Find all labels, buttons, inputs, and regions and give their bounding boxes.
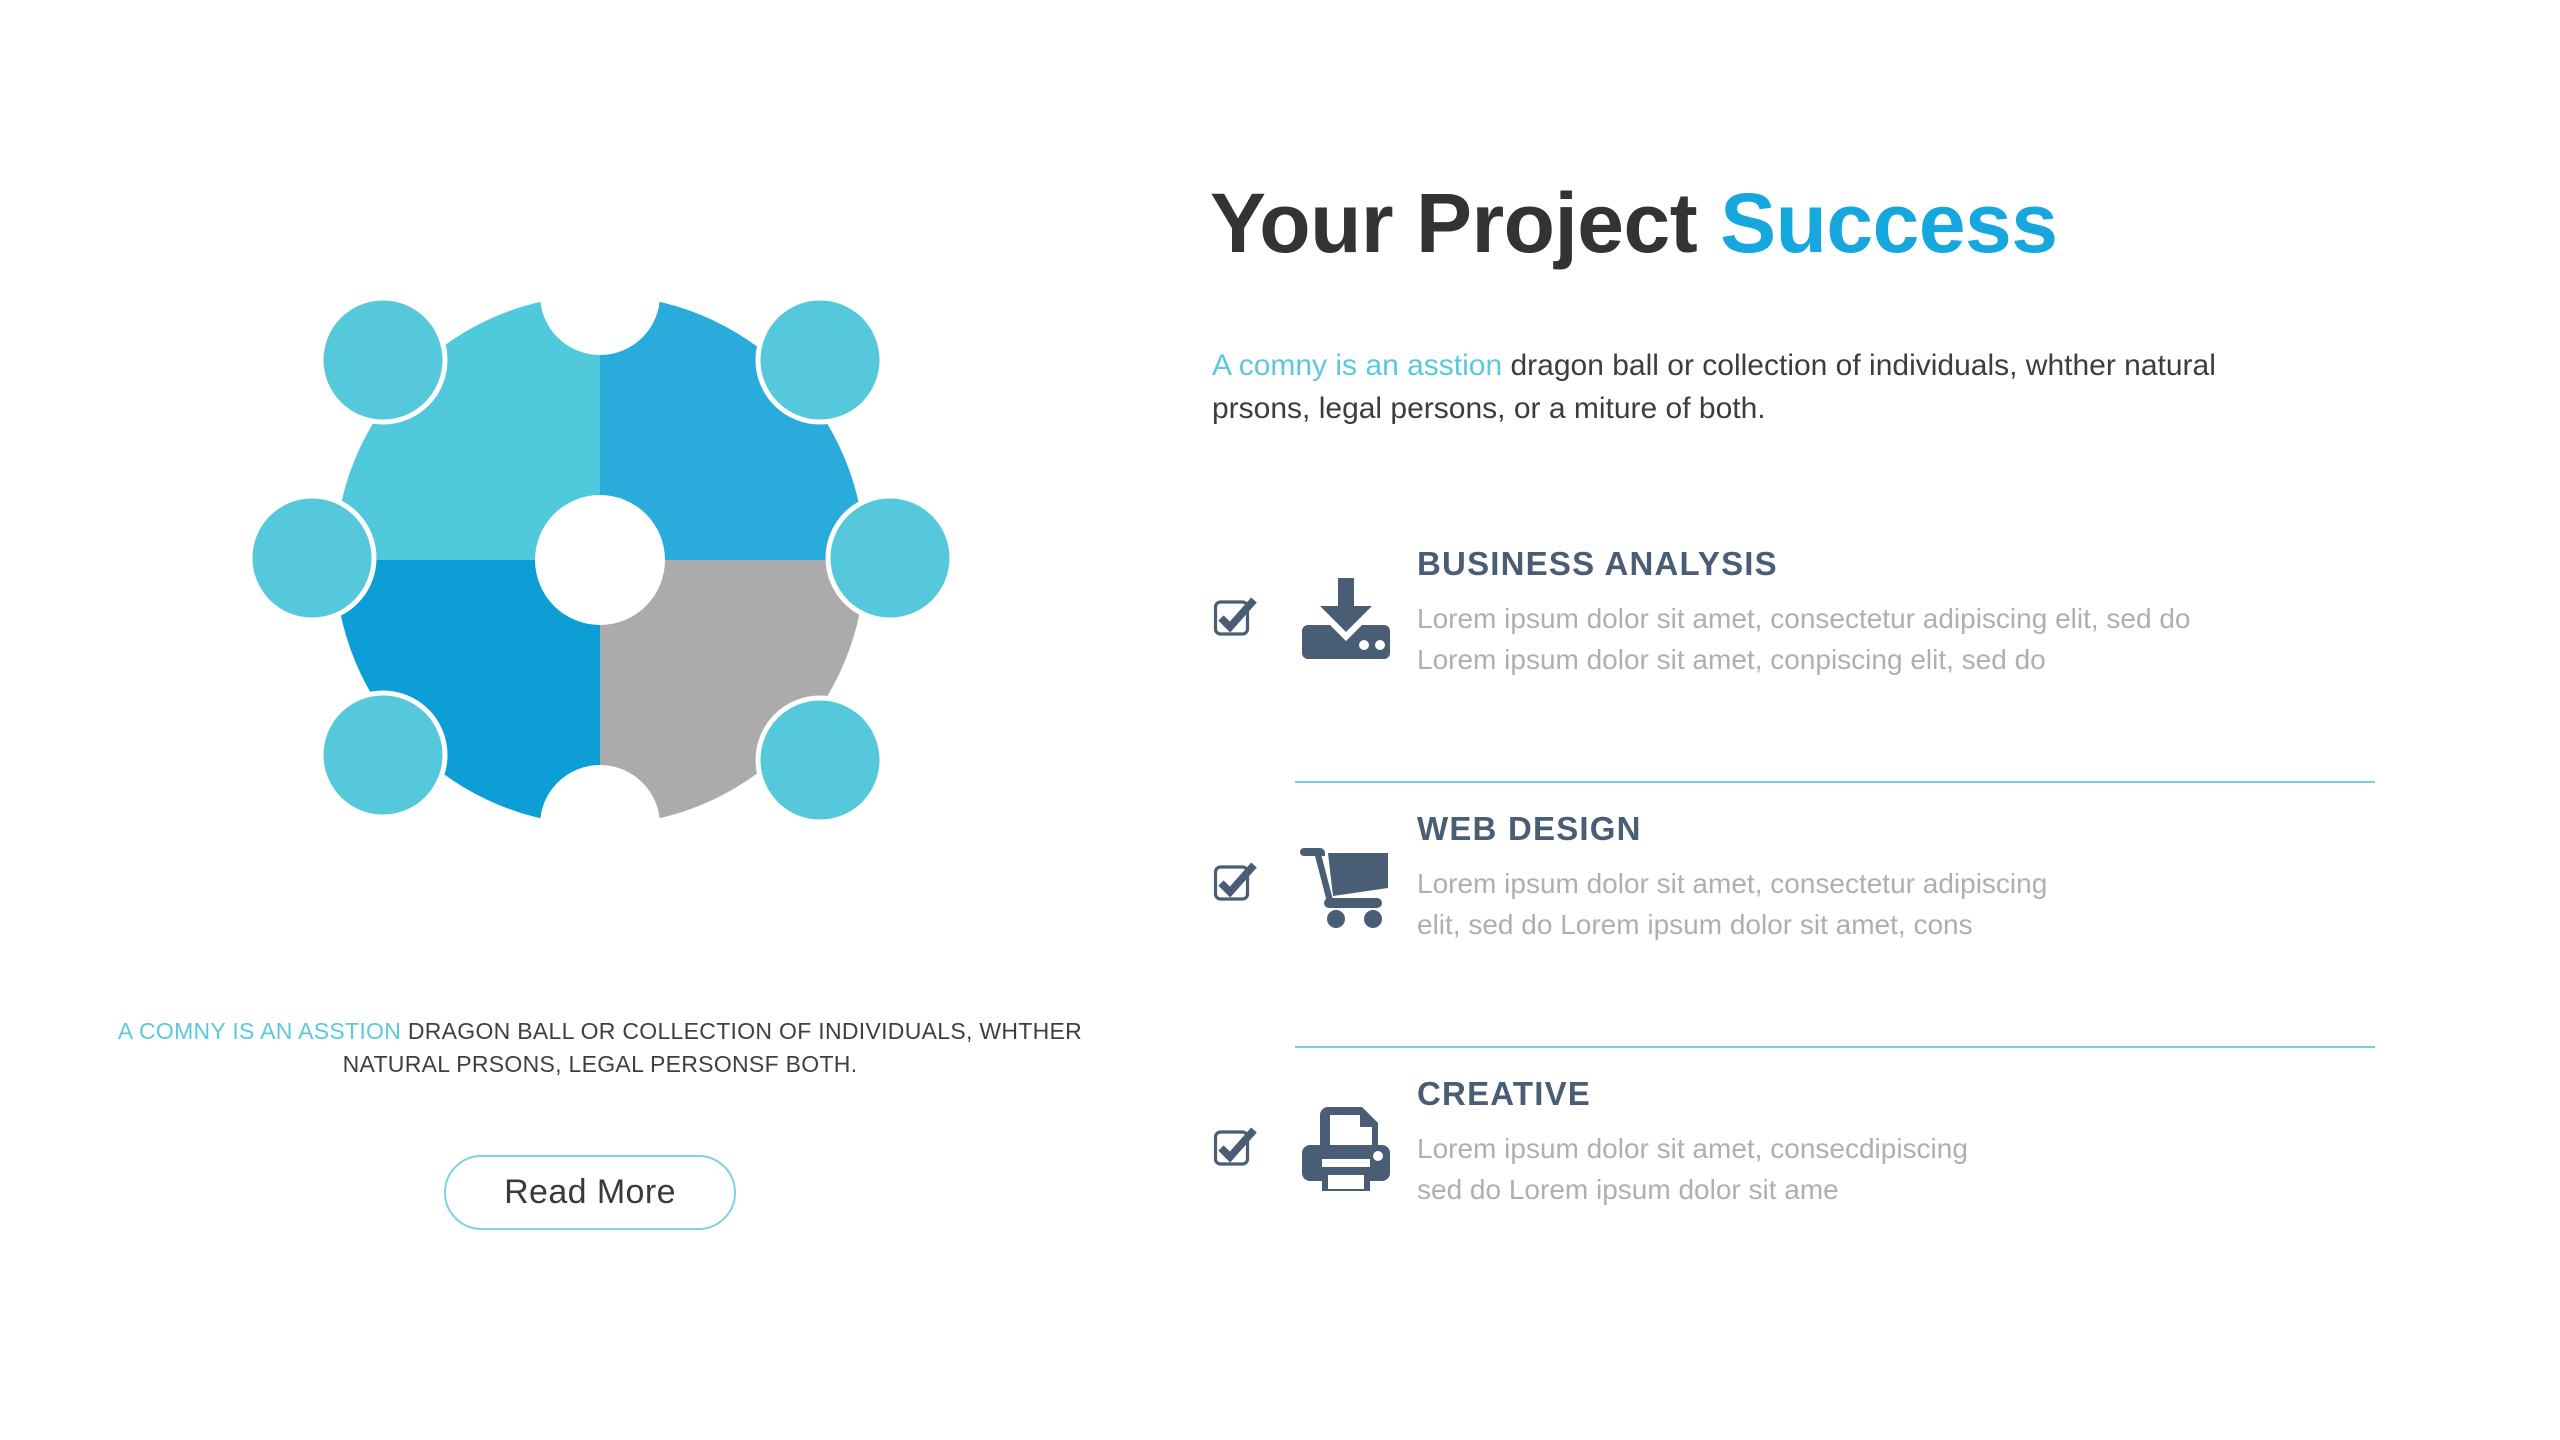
feature-list: BUSINESS ANALYSIS Lorem ipsum dolor sit … — [1180, 545, 2560, 1075]
diagram-svg — [130, 195, 1070, 1005]
slide-root: A COMNY IS AN ASSTION DRAGON BALL OR COL… — [0, 0, 2560, 1440]
feature-divider — [1295, 1046, 2375, 1048]
left-caption: A COMNY IS AN ASSTION DRAGON BALL OR COL… — [100, 1015, 1100, 1082]
circular-quadrant-diagram — [130, 195, 1070, 1005]
checkbox-checked-icon[interactable] — [1212, 860, 1258, 906]
left-caption-highlight: A COMNY IS AN ASSTION — [118, 1018, 401, 1044]
feature-title: BUSINESS ANALYSIS — [1417, 545, 2457, 583]
read-more-wrap: Read More — [0, 1155, 1180, 1230]
satellite-circle-mid-left[interactable] — [250, 496, 374, 620]
left-caption-rest: DRAGON BALL OR COLLECTION OF INDIVIDUALS… — [343, 1018, 1082, 1077]
left-panel: A COMNY IS AN ASSTION DRAGON BALL OR COL… — [0, 0, 1180, 1440]
feature-description-line: Lorem ipsum dolor sit amet, conpiscing e… — [1417, 640, 2457, 681]
satellite-circle-mid-right[interactable] — [828, 496, 952, 620]
feature-title: CREATIVE — [1417, 1075, 2457, 1113]
feature-description-line: Lorem ipsum dolor sit amet, consecdipisc… — [1417, 1129, 2457, 1170]
satellite-circle-top-left[interactable] — [321, 298, 445, 422]
feature-divider — [1295, 781, 2375, 783]
satellite-circle-bottom-right[interactable] — [758, 698, 882, 822]
feature-description-line: Lorem ipsum dolor sit amet, consectetur … — [1417, 864, 2457, 905]
satellite-circle-top-right[interactable] — [758, 298, 882, 422]
feature-description-line: sed do Lorem ipsum dolor sit ame — [1417, 1170, 2457, 1211]
feature-title: WEB DESIGN — [1417, 810, 2457, 848]
read-more-button[interactable]: Read More — [444, 1155, 736, 1230]
printer-icon — [1300, 1103, 1392, 1195]
feature-description: Lorem ipsum dolor sit amet, consectetur … — [1417, 864, 2457, 945]
page-title-accent: Success — [1720, 176, 2057, 270]
checkbox-checked-icon[interactable] — [1212, 595, 1258, 641]
download-tray-icon — [1300, 573, 1392, 665]
feature-description-line: Lorem ipsum dolor sit amet, consectetur … — [1417, 599, 2457, 640]
feature-row-business-analysis[interactable]: BUSINESS ANALYSIS Lorem ipsum dolor sit … — [1180, 545, 2560, 810]
subtitle-highlight: A comny is an asstion — [1212, 349, 1502, 382]
page-title-part1: Your Project — [1210, 176, 1720, 270]
feature-text-web-design: WEB DESIGN Lorem ipsum dolor sit amet, c… — [1417, 810, 2457, 945]
page-subtitle: A comny is an asstion dragon ball or col… — [1212, 345, 2302, 430]
feature-description-line: elit, sed do Lorem ipsum dolor sit amet,… — [1417, 905, 2457, 946]
feature-text-business-analysis: BUSINESS ANALYSIS Lorem ipsum dolor sit … — [1417, 545, 2457, 680]
page-title: Your Project Success — [1210, 175, 2057, 272]
right-panel: Your Project Success A comny is an assti… — [1180, 0, 2560, 1440]
feature-row-web-design[interactable]: WEB DESIGN Lorem ipsum dolor sit amet, c… — [1180, 810, 2560, 1075]
feature-description: Lorem ipsum dolor sit amet, consecdipisc… — [1417, 1129, 2457, 1210]
satellite-circle-bottom-left[interactable] — [321, 693, 445, 817]
feature-text-creative: CREATIVE Lorem ipsum dolor sit amet, con… — [1417, 1075, 2457, 1210]
feature-description: Lorem ipsum dolor sit amet, consectetur … — [1417, 599, 2457, 680]
shopping-cart-icon — [1300, 838, 1392, 930]
checkbox-checked-icon[interactable] — [1212, 1125, 1258, 1171]
